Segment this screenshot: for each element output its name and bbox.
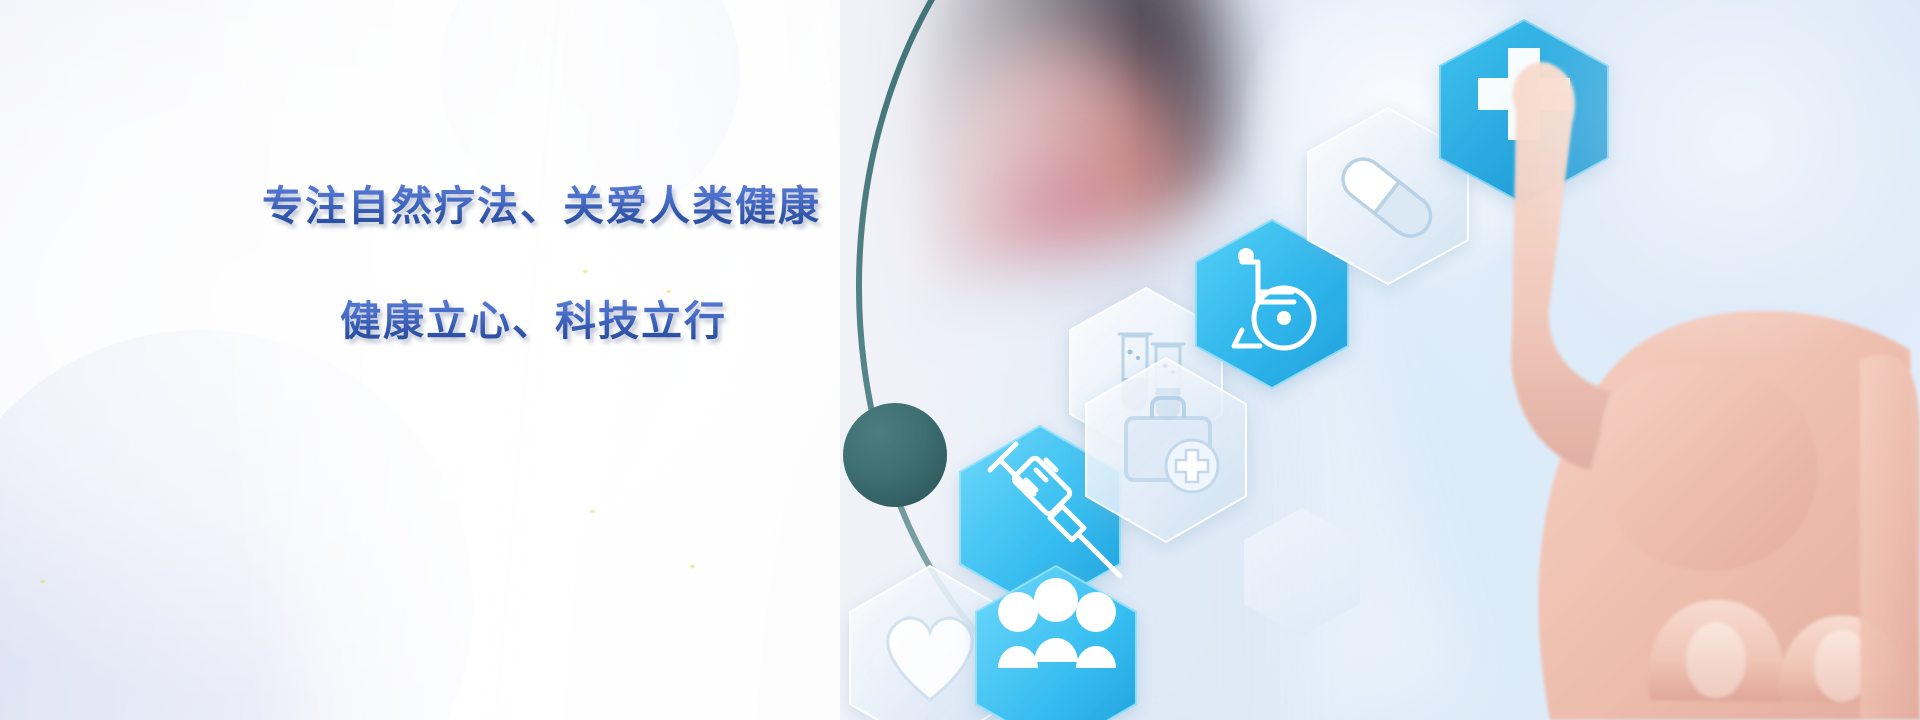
sparkle-speck: [40, 580, 45, 583]
headline-line-1: 专注自然疗法、关爱人类健康: [262, 180, 902, 232]
hero-banner: 专注自然疗法、关爱人类健康 健康立心、科技立行: [0, 0, 1920, 720]
sparkle-speck: [590, 510, 595, 513]
hand-graphic: [1220, 0, 1920, 720]
headline-line-2: 健康立心、科技立行: [340, 295, 902, 347]
hero-photo: [840, 0, 1920, 720]
headline-block: 专注自然疗法、关爱人类健康 健康立心、科技立行: [262, 180, 902, 347]
decor-circle-bottom: [0, 330, 473, 720]
hex-family-group: [976, 566, 1136, 720]
sparkle-speck: [690, 565, 695, 568]
